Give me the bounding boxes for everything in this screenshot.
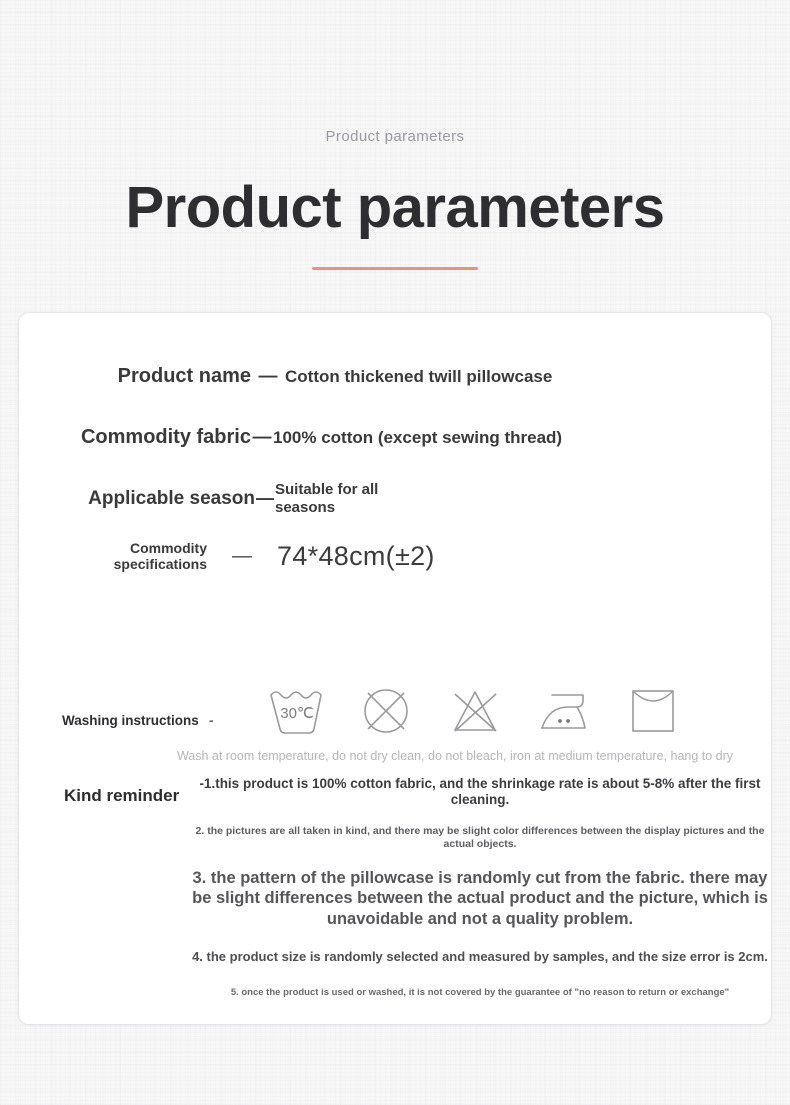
wash-temperature-text: 30℃ bbox=[280, 705, 314, 722]
spec-dash: — bbox=[251, 366, 285, 388]
page-header: Product parameters Product parameters bbox=[0, 0, 790, 270]
parameters-card: Product name — Cotton thickened twill pi… bbox=[18, 312, 772, 1025]
no-bleach-icon bbox=[444, 685, 506, 737]
washing-instructions-label: Washing instructions bbox=[62, 713, 199, 728]
no-dry-clean-icon bbox=[355, 685, 417, 737]
reminder-item: -1.this product is 100% cotton fabric, a… bbox=[187, 776, 773, 809]
product-parameters-page: Product parameters Product parameters Pr… bbox=[0, 0, 790, 270]
page-subtitle: Product parameters bbox=[0, 128, 790, 145]
reminder-item: 3. the pattern of the pillowcase is rand… bbox=[187, 868, 773, 930]
wash-30c-icon: 30℃ bbox=[266, 685, 328, 737]
spec-value: Suitable for all seasons bbox=[275, 481, 425, 516]
spec-label: Applicable season bbox=[51, 488, 255, 510]
spec-label: Commodity specifications bbox=[87, 541, 207, 573]
reminder-item: 5. once the product is used or washed, i… bbox=[187, 987, 773, 999]
reminder-item: 4. the product size is randomly selected… bbox=[187, 949, 773, 965]
spec-dash: — bbox=[207, 545, 277, 568]
kind-reminder-items: -1.this product is 100% cotton fabric, a… bbox=[187, 776, 773, 998]
spec-row-product-name: Product name — Cotton thickened twill pi… bbox=[69, 365, 552, 388]
spec-label: Product name bbox=[69, 365, 251, 388]
spec-dash: — bbox=[255, 488, 275, 509]
washing-instructions-dash: - bbox=[209, 712, 214, 728]
title-underline bbox=[312, 267, 478, 270]
washing-caption: Wash at room temperature, do not dry cle… bbox=[19, 749, 771, 763]
kind-reminder-label: Kind reminder bbox=[64, 786, 179, 806]
spec-label: Commodity fabric bbox=[51, 426, 251, 449]
spec-dash: — bbox=[251, 427, 273, 449]
hang-to-dry-icon bbox=[622, 685, 684, 737]
washing-icons-row: 30℃ bbox=[266, 685, 684, 737]
reminder-item: 2. the pictures are all taken in kind, a… bbox=[187, 825, 773, 851]
page-title: Product parameters bbox=[0, 179, 790, 237]
spec-value: Cotton thickened twill pillowcase bbox=[285, 367, 552, 387]
spec-value: 74*48cm(±2) bbox=[277, 541, 435, 572]
spec-value: 100% cotton (except sewing thread) bbox=[273, 428, 562, 448]
spec-row-commodity-fabric: Commodity fabric — 100% cotton (except s… bbox=[51, 426, 562, 449]
iron-medium-icon bbox=[533, 685, 595, 737]
spec-row-applicable-season: Applicable season — Suitable for all sea… bbox=[51, 481, 425, 516]
spec-row-commodity-specifications: Commodity specifications — 74*48cm(±2) bbox=[87, 541, 435, 573]
